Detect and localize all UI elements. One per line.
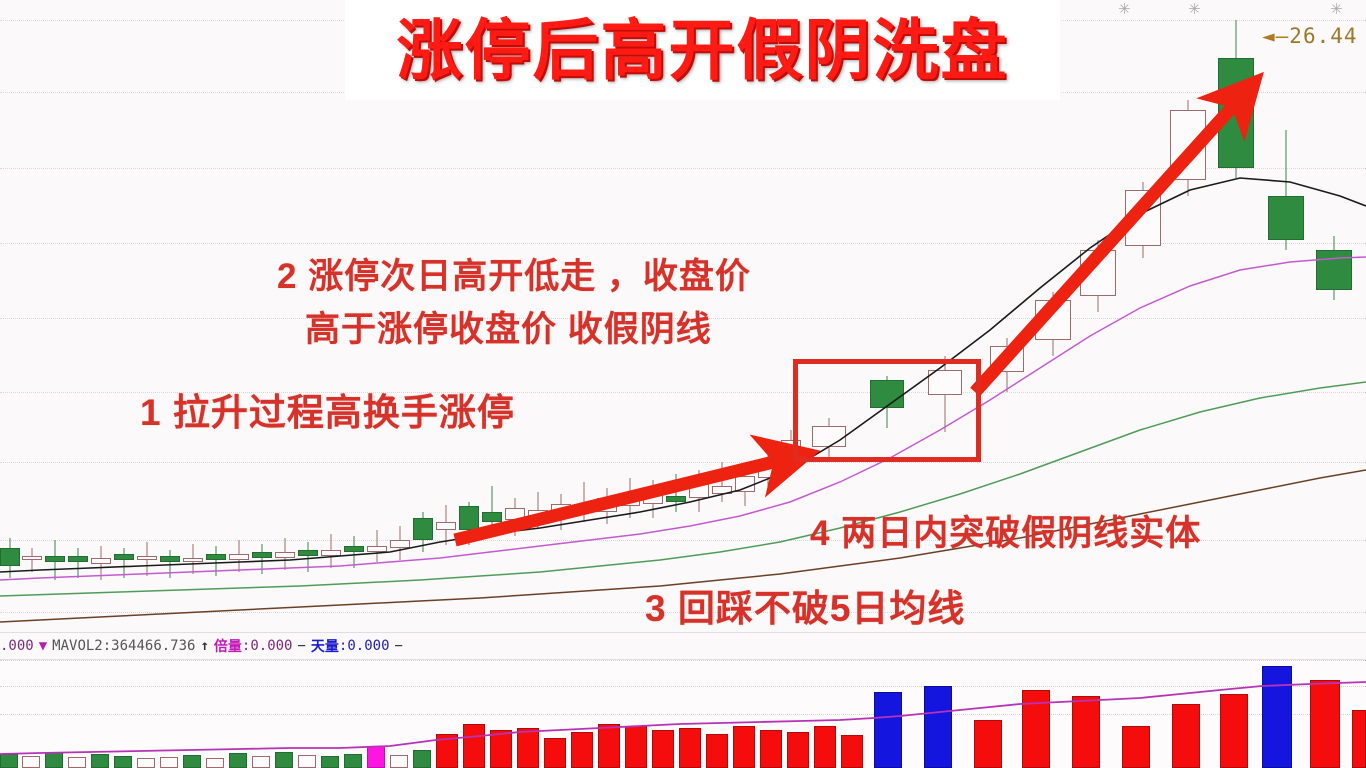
candle-5[interactable] — [114, 0, 134, 632]
volume-bar-38[interactable] — [1022, 690, 1050, 768]
candle-body — [505, 508, 525, 520]
candle-body — [367, 546, 387, 552]
candle-body — [666, 496, 686, 502]
candle-body — [620, 500, 640, 506]
candle-wick — [630, 478, 631, 518]
volume-bar-19[interactable] — [436, 734, 458, 768]
volume-bar-41[interactable] — [1172, 704, 1200, 768]
volume-bar-25[interactable] — [598, 724, 620, 768]
candle-body — [0, 548, 20, 566]
volume-bar-22[interactable] — [517, 728, 539, 768]
page-title: 涨停后高开假阴洗盘 — [397, 17, 1009, 83]
volume-bar-28[interactable] — [679, 728, 701, 768]
candle-body — [597, 498, 617, 512]
candle-body — [436, 522, 456, 530]
volume-bar-44[interactable] — [1310, 680, 1340, 768]
candle-wick — [216, 546, 217, 576]
candle-body — [68, 556, 88, 562]
volume-bar-24[interactable] — [571, 732, 593, 768]
mavol2-label: MAVOL2: — [52, 638, 111, 654]
annotation-text-4: 4 两日内突破假阴线实体 — [810, 505, 1201, 556]
candle-9[interactable] — [206, 0, 226, 632]
candle-wick — [354, 536, 355, 568]
candle-body — [643, 492, 663, 504]
volume-bar-34[interactable] — [841, 735, 863, 768]
mavol2-value: 364466.736 — [111, 638, 195, 654]
volume-bar-31[interactable] — [760, 730, 782, 768]
up-arrow-icon: ↑ — [195, 638, 213, 654]
volume-bar-16[interactable] — [367, 746, 385, 768]
candle-45[interactable] — [1316, 0, 1352, 632]
volume-bar-36[interactable] — [924, 686, 952, 768]
candle-body — [551, 504, 571, 516]
candle-body — [1125, 190, 1161, 246]
volume-chart-pane[interactable] — [0, 658, 1366, 768]
candle-body — [1268, 196, 1304, 240]
status-beiliang: 倍量:0.000 — [214, 636, 293, 656]
volume-bar-1[interactable] — [22, 756, 40, 768]
tianliang-value: :0.000 — [339, 638, 390, 654]
candle-body — [137, 556, 157, 560]
volume-gridline-0 — [0, 660, 1366, 661]
candle-7[interactable] — [160, 0, 180, 632]
volume-gridline-1 — [0, 686, 1366, 687]
candle-wick — [170, 550, 171, 578]
candle-body — [413, 518, 433, 540]
price-callout-value: 26.44 — [1289, 24, 1357, 48]
candle-body — [160, 556, 180, 562]
volume-bar-6[interactable] — [137, 758, 155, 768]
candle-wick — [124, 548, 125, 578]
volume-bar-21[interactable] — [490, 730, 512, 768]
beiliang-value: :0.000 — [242, 638, 293, 654]
down-arrow-icon: ▼ — [34, 638, 52, 654]
candle-body — [1035, 300, 1071, 340]
volume-bar-35[interactable] — [874, 692, 902, 768]
price-callout: ◄—26.44 — [1262, 24, 1358, 48]
candle-wick — [78, 548, 79, 578]
highlight-box-fake-bearish[interactable] — [793, 359, 981, 462]
candle-body — [689, 484, 709, 498]
candle-body — [114, 554, 134, 560]
candle-wick — [308, 542, 309, 572]
candle-43[interactable] — [1218, 0, 1254, 632]
price-callout-arrow-icon: ◄— — [1262, 24, 1289, 48]
indicator-status-bar[interactable]: .000 ▼ MAVOL2:364466.736 ↑ 倍量:0.000 − 天量… — [0, 632, 1366, 660]
volume-bar-37[interactable] — [974, 720, 1002, 768]
candle-body — [252, 552, 272, 558]
candle-body — [229, 554, 249, 560]
volume-bar-10[interactable] — [229, 753, 247, 768]
volume-bar-3[interactable] — [68, 757, 86, 768]
volume-bar-30[interactable] — [733, 726, 755, 768]
candle-body — [712, 486, 732, 494]
candle-body — [321, 550, 341, 556]
candle-wick — [492, 486, 493, 532]
candle-wick — [722, 462, 723, 502]
candle-body — [990, 346, 1024, 372]
candle-body — [275, 552, 295, 558]
volume-bar-14[interactable] — [321, 756, 339, 768]
candle-body — [91, 558, 111, 564]
candle-wick — [676, 474, 677, 512]
volume-bar-4[interactable] — [91, 754, 109, 768]
candle-body — [298, 550, 318, 556]
candle-wick — [32, 548, 33, 572]
volume-bar-8[interactable] — [183, 755, 201, 768]
beiliang-label: 倍量 — [214, 636, 242, 656]
candle-wick — [262, 544, 263, 574]
candle-body — [206, 554, 226, 560]
volume-bar-43[interactable] — [1262, 666, 1292, 768]
volume-bar-15[interactable] — [344, 754, 362, 768]
stock-chart-screenshot: ✳✳✳✳✳ ◄—26.44 1 拉升过程高换手涨停2 涨停次日高开低走 ，收盘价… — [0, 0, 1366, 768]
volume-bar-5[interactable] — [114, 756, 132, 768]
candle-body — [482, 512, 502, 522]
volume-bar-27[interactable] — [652, 730, 674, 768]
candle-body — [1218, 58, 1254, 168]
volume-bar-32[interactable] — [787, 732, 809, 768]
annotation-text-1: 1 拉升过程高换手涨停 — [140, 382, 515, 436]
tianliang-label: 天量 — [311, 636, 339, 656]
candle-body — [1316, 250, 1352, 290]
candle-4[interactable] — [91, 0, 111, 632]
candle-44[interactable] — [1268, 0, 1304, 632]
volume-bar-26[interactable] — [625, 726, 647, 768]
candle-1[interactable] — [22, 0, 42, 632]
volume-bar-40[interactable] — [1122, 726, 1150, 768]
candle-body — [1080, 250, 1116, 296]
volume-bar-2[interactable] — [45, 752, 63, 768]
volume-bar-20[interactable] — [463, 724, 485, 768]
candle-10[interactable] — [229, 0, 249, 632]
candle-body — [528, 510, 548, 516]
annotation-text-3: 高于涨停收盘价 收假阴线 — [305, 301, 712, 352]
candle-wick — [584, 482, 585, 522]
candle-body — [390, 540, 410, 548]
status-tianliang: 天量:0.000 — [311, 636, 390, 656]
volume-bar-29[interactable] — [706, 734, 728, 768]
volume-bar-17[interactable] — [390, 755, 408, 768]
volume-bar-42[interactable] — [1220, 694, 1248, 768]
candle-3[interactable] — [68, 0, 88, 632]
volume-bar-23[interactable] — [544, 738, 566, 768]
price-chart-pane[interactable]: ✳✳✳✳✳ ◄—26.44 1 拉升过程高换手涨停2 涨停次日高开低走 ，收盘价… — [0, 0, 1366, 632]
volume-bar-9[interactable] — [206, 758, 224, 768]
volume-bar-39[interactable] — [1072, 696, 1100, 768]
candle-body — [459, 506, 479, 530]
annotation-text-2: 2 涨停次日高开低走 ，收盘价 — [277, 248, 751, 299]
candle-12[interactable] — [275, 0, 295, 632]
candle-8[interactable] — [183, 0, 203, 632]
volume-bar-11[interactable] — [252, 756, 270, 768]
candle-body — [574, 506, 594, 512]
status-mavol2: MAVOL2:364466.736 — [52, 638, 195, 654]
volume-bar-0[interactable] — [0, 754, 18, 768]
candle-body — [22, 556, 42, 560]
title-banner: 涨停后高开假阴洗盘 — [345, 0, 1060, 100]
candle-body — [735, 476, 755, 492]
volume-bar-12[interactable] — [275, 752, 293, 768]
candle-body — [1170, 110, 1206, 180]
annotation-text-5: 3 回踩不破5日均线 — [645, 578, 965, 632]
candle-11[interactable] — [252, 0, 272, 632]
candle-body — [344, 546, 364, 552]
candle-6[interactable] — [137, 0, 157, 632]
candle-body — [45, 556, 65, 562]
tianliang-dash: − — [390, 638, 408, 654]
mavol1-value: .000 — [0, 638, 34, 654]
volume-bar-33[interactable] — [814, 726, 836, 768]
candle-body — [183, 558, 203, 562]
volume-gridline-2 — [0, 714, 1366, 715]
volume-bar-13[interactable] — [298, 755, 316, 768]
volume-bar-7[interactable] — [160, 757, 178, 768]
candle-2[interactable] — [45, 0, 65, 632]
status-mavol1: .000 — [0, 638, 34, 654]
volume-bar-18[interactable] — [413, 750, 431, 768]
beiliang-dash: − — [292, 638, 310, 654]
candle-0[interactable] — [0, 0, 20, 632]
volume-bar-45[interactable] — [1352, 710, 1366, 768]
candle-body — [758, 462, 778, 478]
